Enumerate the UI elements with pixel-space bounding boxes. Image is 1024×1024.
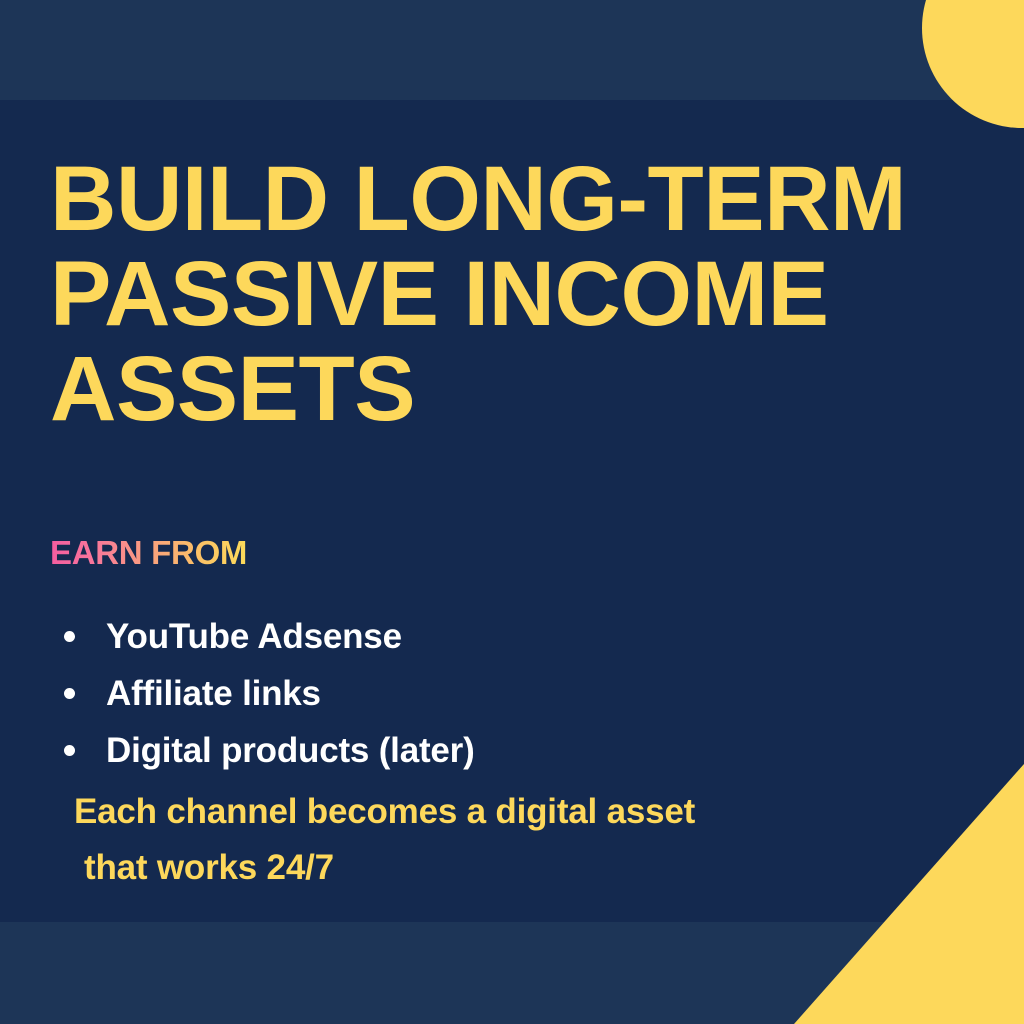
list-item-label: Digital products (later) bbox=[106, 731, 475, 771]
footnote-line-1: Each channel becomes a digital asset bbox=[74, 792, 695, 831]
footnote-line-2: that works 24/7 bbox=[74, 840, 904, 896]
list-item-label: Affiliate links bbox=[106, 674, 321, 714]
bullet-dot-icon bbox=[64, 688, 75, 699]
slide-content: BUILD LONG-TERM PASSIVE INCOME ASSETS EA… bbox=[0, 0, 1024, 1024]
slide-canvas: BUILD LONG-TERM PASSIVE INCOME ASSETS EA… bbox=[0, 0, 1024, 1024]
footnote: Each channel becomes a digital asset tha… bbox=[74, 784, 904, 896]
page-title: BUILD LONG-TERM PASSIVE INCOME ASSETS bbox=[50, 152, 950, 437]
list-item: Digital products (later) bbox=[50, 722, 870, 779]
list-item: YouTube Adsense bbox=[50, 608, 870, 665]
list-item-label: YouTube Adsense bbox=[106, 617, 402, 657]
bullet-dot-icon bbox=[64, 631, 75, 642]
section-label-earn-from: EARN FROM bbox=[50, 534, 247, 572]
bullet-dot-icon bbox=[64, 745, 75, 756]
list-item: Affiliate links bbox=[50, 665, 870, 722]
earn-from-list: YouTube Adsense Affiliate links Digital … bbox=[50, 608, 870, 779]
